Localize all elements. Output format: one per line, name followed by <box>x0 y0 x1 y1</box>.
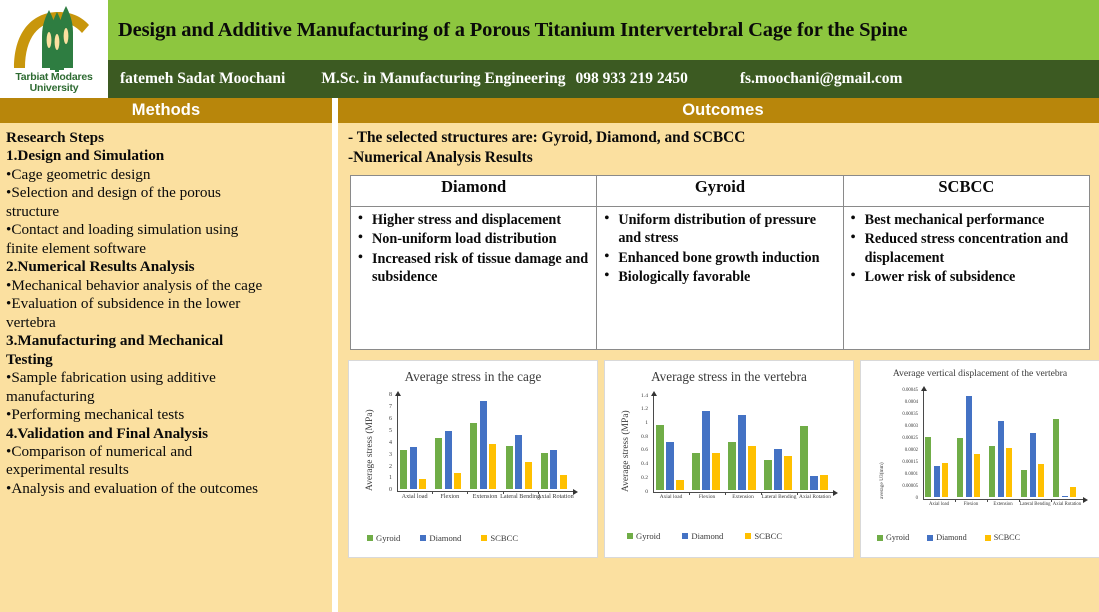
bar-scbcc <box>712 453 720 490</box>
bar-gyroid <box>957 438 963 497</box>
bar-gyroid <box>506 446 513 489</box>
y-axis-title: average U3(mm) <box>879 462 885 499</box>
x-category-label: Axial Rotation <box>1048 502 1086 507</box>
legend-item-scbcc: SCBCC <box>745 531 782 541</box>
y-tick-label: 1 <box>389 475 392 481</box>
bar-scbcc <box>748 446 756 490</box>
bar-gyroid <box>989 446 995 497</box>
bar-diamond <box>810 476 818 490</box>
y-tick-label: 6 <box>389 416 392 422</box>
y-tick-label: 0.2 <box>641 475 648 481</box>
x-category-label: Axial Rotation <box>794 495 836 501</box>
bar-gyroid <box>925 437 931 497</box>
table-cell: Best mechanical performanceReduced stres… <box>843 207 1089 350</box>
bar-scbcc <box>676 480 684 490</box>
bar-scbcc <box>942 463 948 497</box>
bullet-list: Best mechanical performanceReduced stres… <box>848 211 1084 287</box>
methods-column: Methods Research Steps1.Design and Simul… <box>0 98 332 612</box>
legend-label: Diamond <box>429 533 461 543</box>
x-axis <box>653 492 833 493</box>
methods-line: •Comparison of numerical and <box>6 443 326 461</box>
bar-gyroid <box>400 450 407 489</box>
outcomes-title: Outcomes <box>682 101 764 120</box>
legend-swatch <box>745 533 751 539</box>
bar-scbcc <box>1038 464 1044 497</box>
methods-panel: Research Steps1.Design and Simulation•Ca… <box>0 123 332 612</box>
bar-gyroid <box>1053 419 1059 497</box>
university-logo: Tarbiat Modares University <box>0 0 108 98</box>
y-axis-title: Average stress (MPa) <box>621 410 631 492</box>
methods-line: manufacturing <box>6 388 326 406</box>
outcomes-panel: - The selected structures are: Gyroid, D… <box>338 123 1099 612</box>
methods-line: Testing <box>6 351 326 369</box>
y-axis-arrow <box>395 391 401 396</box>
bar-gyroid <box>728 442 736 490</box>
bar-diamond <box>445 431 452 489</box>
structure-comparison-table: Diamond Gyroid SCBCC Higher stress and d… <box>350 175 1090 350</box>
charts-row: Average stress in the cage012345678Axial… <box>348 360 1099 558</box>
author-email: fs.moochani@gmail.com <box>688 70 903 88</box>
bullet-item: Biologically favorable <box>601 268 837 286</box>
chart-average-stress-cage: Average stress in the cage012345678Axial… <box>348 360 598 558</box>
bar-gyroid <box>800 426 808 490</box>
x-axis <box>923 499 1083 500</box>
y-tick-label: 0.00015 <box>902 460 918 465</box>
y-tick-label: 0.8 <box>641 434 648 440</box>
bar-scbcc <box>974 454 980 497</box>
bar-gyroid <box>1021 470 1027 497</box>
outcomes-lead: - The selected structures are: Gyroid, D… <box>348 128 1099 168</box>
bar-diamond <box>774 449 782 490</box>
methods-line: •Evaluation of subsidence in the lower <box>6 295 326 313</box>
legend-label: Gyroid <box>376 533 400 543</box>
author-name: fatemeh Sadat Moochani <box>108 70 285 88</box>
table-col-header: SCBCC <box>843 176 1089 207</box>
title-bar: Design and Additive Manufacturing of a P… <box>108 0 1099 60</box>
legend-swatch <box>985 535 991 541</box>
bar-diamond <box>998 421 1004 497</box>
legend-label: SCBCC <box>994 533 1020 542</box>
bullet-item: Lower risk of subsidence <box>848 268 1084 286</box>
table-header-row: Diamond Gyroid SCBCC <box>351 176 1090 207</box>
y-tick-label: 8 <box>389 392 392 398</box>
y-tick-label: 0.0003 <box>905 424 918 429</box>
y-tick-label: 1.2 <box>641 406 648 412</box>
legend-item-diamond: Diamond <box>927 533 966 542</box>
y-tick-label: 0.0002 <box>905 448 918 453</box>
legend-item-gyroid: Gyroid <box>877 533 909 542</box>
methods-section-header: Methods <box>0 98 332 123</box>
methods-line: finite element software <box>6 240 326 258</box>
methods-line: 2.Numerical Results Analysis <box>6 258 326 276</box>
outcomes-lead-line-1: - The selected structures are: Gyroid, D… <box>348 128 1099 148</box>
y-axis <box>653 396 654 492</box>
methods-line: 4.Validation and Final Analysis <box>6 425 326 443</box>
bullet-item: Higher stress and displacement <box>355 211 591 229</box>
y-tick-label: 0.4 <box>641 461 648 467</box>
bar-diamond <box>1030 433 1036 497</box>
bar-diamond <box>410 447 417 489</box>
methods-line: 1.Design and Simulation <box>6 147 326 165</box>
y-tick-label: 3 <box>389 452 392 458</box>
methods-line: •Contact and loading simulation using <box>6 221 326 239</box>
y-tick-label: 0.6 <box>641 447 648 453</box>
bar-scbcc <box>454 473 461 489</box>
bullet-item: Uniform distribution of pressure and str… <box>601 211 837 248</box>
legend-swatch <box>420 535 426 541</box>
chart-average-vertical-displacement: Average vertical displacement of the ver… <box>860 360 1099 558</box>
y-tick-label: 2 <box>389 464 392 470</box>
y-tick-label: 0.00005 <box>902 484 918 489</box>
bullet-item: Non-uniform load distribution <box>355 230 591 248</box>
bar-diamond <box>738 415 746 490</box>
bar-scbcc <box>419 479 426 489</box>
author-phone: 098 933 219 2450 <box>565 70 687 88</box>
plot-area: 00.000050.00010.000150.00020.000250.0003… <box>861 361 1099 557</box>
bar-gyroid <box>470 423 477 490</box>
table-cell: Higher stress and displacementNon-unifor… <box>351 207 597 350</box>
bar-diamond <box>515 435 522 489</box>
methods-line: •Performing mechanical tests <box>6 406 326 424</box>
legend-item-gyroid: Gyroid <box>367 533 400 543</box>
bar-diamond <box>1062 496 1068 497</box>
wheat-stalk-arc-icon <box>6 2 102 72</box>
logo-line-2: University <box>2 83 106 94</box>
methods-line: •Analysis and evaluation of the outcomes <box>6 480 326 498</box>
legend-label: Diamond <box>691 531 723 541</box>
y-tick-label: 0.00045 <box>902 388 918 393</box>
methods-line: experimental results <box>6 461 326 479</box>
y-tick-label: 5 <box>389 428 392 434</box>
methods-line: •Mechanical behavior analysis of the cag… <box>6 277 326 295</box>
y-axis <box>923 391 924 499</box>
methods-line: Research Steps <box>6 129 326 147</box>
research-steps-list: Research Steps1.Design and Simulation•Ca… <box>6 129 326 498</box>
table-row: Higher stress and displacementNon-unifor… <box>351 207 1090 350</box>
chart-legend: GyroidDiamondSCBCC <box>627 531 804 541</box>
y-tick-label: 4 <box>389 440 392 446</box>
bar-gyroid <box>692 453 700 490</box>
poster-body: Methods Research Steps1.Design and Simul… <box>0 98 1099 612</box>
bar-diamond <box>966 396 972 498</box>
y-tick-label: 0.00025 <box>902 436 918 441</box>
legend-label: SCBCC <box>754 531 782 541</box>
bar-gyroid <box>656 425 664 490</box>
legend-item-scbcc: SCBCC <box>481 533 518 543</box>
legend-item-diamond: Diamond <box>682 531 723 541</box>
methods-line: 3.Manufacturing and Mechanical <box>6 332 326 350</box>
author-degree: M.Sc. in Manufacturing Engineering <box>285 70 565 88</box>
y-axis <box>397 396 398 491</box>
bar-scbcc <box>489 444 496 489</box>
bar-gyroid <box>435 438 442 489</box>
bar-diamond <box>480 401 487 489</box>
y-axis-arrow <box>921 386 927 391</box>
y-tick-label: 0.0004 <box>905 400 918 405</box>
legend-swatch <box>367 535 373 541</box>
contact-bar: fatemeh Sadat Moochani M.Sc. in Manufact… <box>108 60 1099 98</box>
bullet-item: Enhanced bone growth induction <box>601 249 837 267</box>
bullet-item: Increased risk of tissue damage and subs… <box>355 250 591 287</box>
bar-diamond <box>666 442 674 490</box>
table-cell: Uniform distribution of pressure and str… <box>597 207 843 350</box>
bar-diamond <box>702 411 710 491</box>
legend-item-diamond: Diamond <box>420 533 461 543</box>
legend-swatch <box>627 533 633 539</box>
logo-text: Tarbiat Modares University <box>2 72 106 93</box>
legend-swatch <box>682 533 688 539</box>
bar-scbcc <box>525 462 532 489</box>
legend-label: Gyroid <box>886 533 909 542</box>
methods-line: •Selection and design of the porous <box>6 184 326 202</box>
legend-label: SCBCC <box>490 533 518 543</box>
legend-label: Diamond <box>936 533 966 542</box>
outcomes-section-header: Outcomes <box>338 98 1099 123</box>
y-tick-label: 0 <box>916 496 918 501</box>
legend-label: Gyroid <box>636 531 660 541</box>
y-axis-arrow <box>651 391 657 396</box>
y-axis-title: Average stress (MPa) <box>365 409 375 491</box>
bullet-item: Best mechanical performance <box>848 211 1084 229</box>
y-tick-label: 7 <box>389 404 392 410</box>
chart-legend: GyroidDiamondSCBCC <box>877 533 1038 542</box>
methods-title: Methods <box>132 101 201 120</box>
header-right: Design and Additive Manufacturing of a P… <box>108 0 1099 98</box>
bar-gyroid <box>764 460 772 490</box>
chart-legend: GyroidDiamondSCBCC <box>367 533 538 543</box>
legend-swatch <box>481 535 487 541</box>
y-tick-label: 1.4 <box>641 393 648 399</box>
legend-item-gyroid: Gyroid <box>627 531 660 541</box>
bar-scbcc <box>1070 487 1076 497</box>
table-col-header: Gyroid <box>597 176 843 207</box>
outcomes-column: Outcomes - The selected structures are: … <box>338 98 1099 612</box>
bar-gyroid <box>541 453 548 489</box>
y-tick-label: 1 <box>645 420 648 426</box>
chart-average-stress-vertebra: Average stress in the vertebra00.20.40.6… <box>604 360 854 558</box>
bar-scbcc <box>1006 448 1012 497</box>
methods-line: structure <box>6 203 326 221</box>
x-axis <box>397 491 573 492</box>
bar-scbcc <box>560 475 567 489</box>
poster-title: Design and Additive Manufacturing of a P… <box>108 19 907 42</box>
y-tick-label: 0 <box>389 487 392 493</box>
poster-root: Tarbiat Modares University Design and Ad… <box>0 0 1099 612</box>
poster-header: Tarbiat Modares University Design and Ad… <box>0 0 1099 98</box>
bar-scbcc <box>820 475 828 490</box>
y-tick-label: 0.0001 <box>905 472 918 477</box>
y-tick-label: 0 <box>645 489 648 495</box>
x-category-label: Axial Rotation <box>535 494 576 501</box>
bullet-list: Uniform distribution of pressure and str… <box>601 211 837 287</box>
bar-diamond <box>550 450 557 489</box>
legend-swatch <box>927 535 933 541</box>
table-col-header: Diamond <box>351 176 597 207</box>
bullet-list: Higher stress and displacementNon-unifor… <box>355 211 591 287</box>
plot-area: 012345678Axial loadFlexionExtensionLater… <box>349 361 597 557</box>
bar-scbcc <box>784 456 792 490</box>
legend-swatch <box>877 535 883 541</box>
bar-diamond <box>934 466 940 497</box>
methods-line: vertebra <box>6 314 326 332</box>
plot-area: 00.20.40.60.811.21.4Axial loadFlexionExt… <box>605 361 853 557</box>
methods-line: •Cage geometric design <box>6 166 326 184</box>
outcomes-lead-line-2: -Numerical Analysis Results <box>348 148 1099 168</box>
y-tick-label: 0.00035 <box>902 412 918 417</box>
methods-line: •Sample fabrication using additive <box>6 369 326 387</box>
bullet-item: Reduced stress concentration and displac… <box>848 230 1084 267</box>
legend-item-scbcc: SCBCC <box>985 533 1020 542</box>
